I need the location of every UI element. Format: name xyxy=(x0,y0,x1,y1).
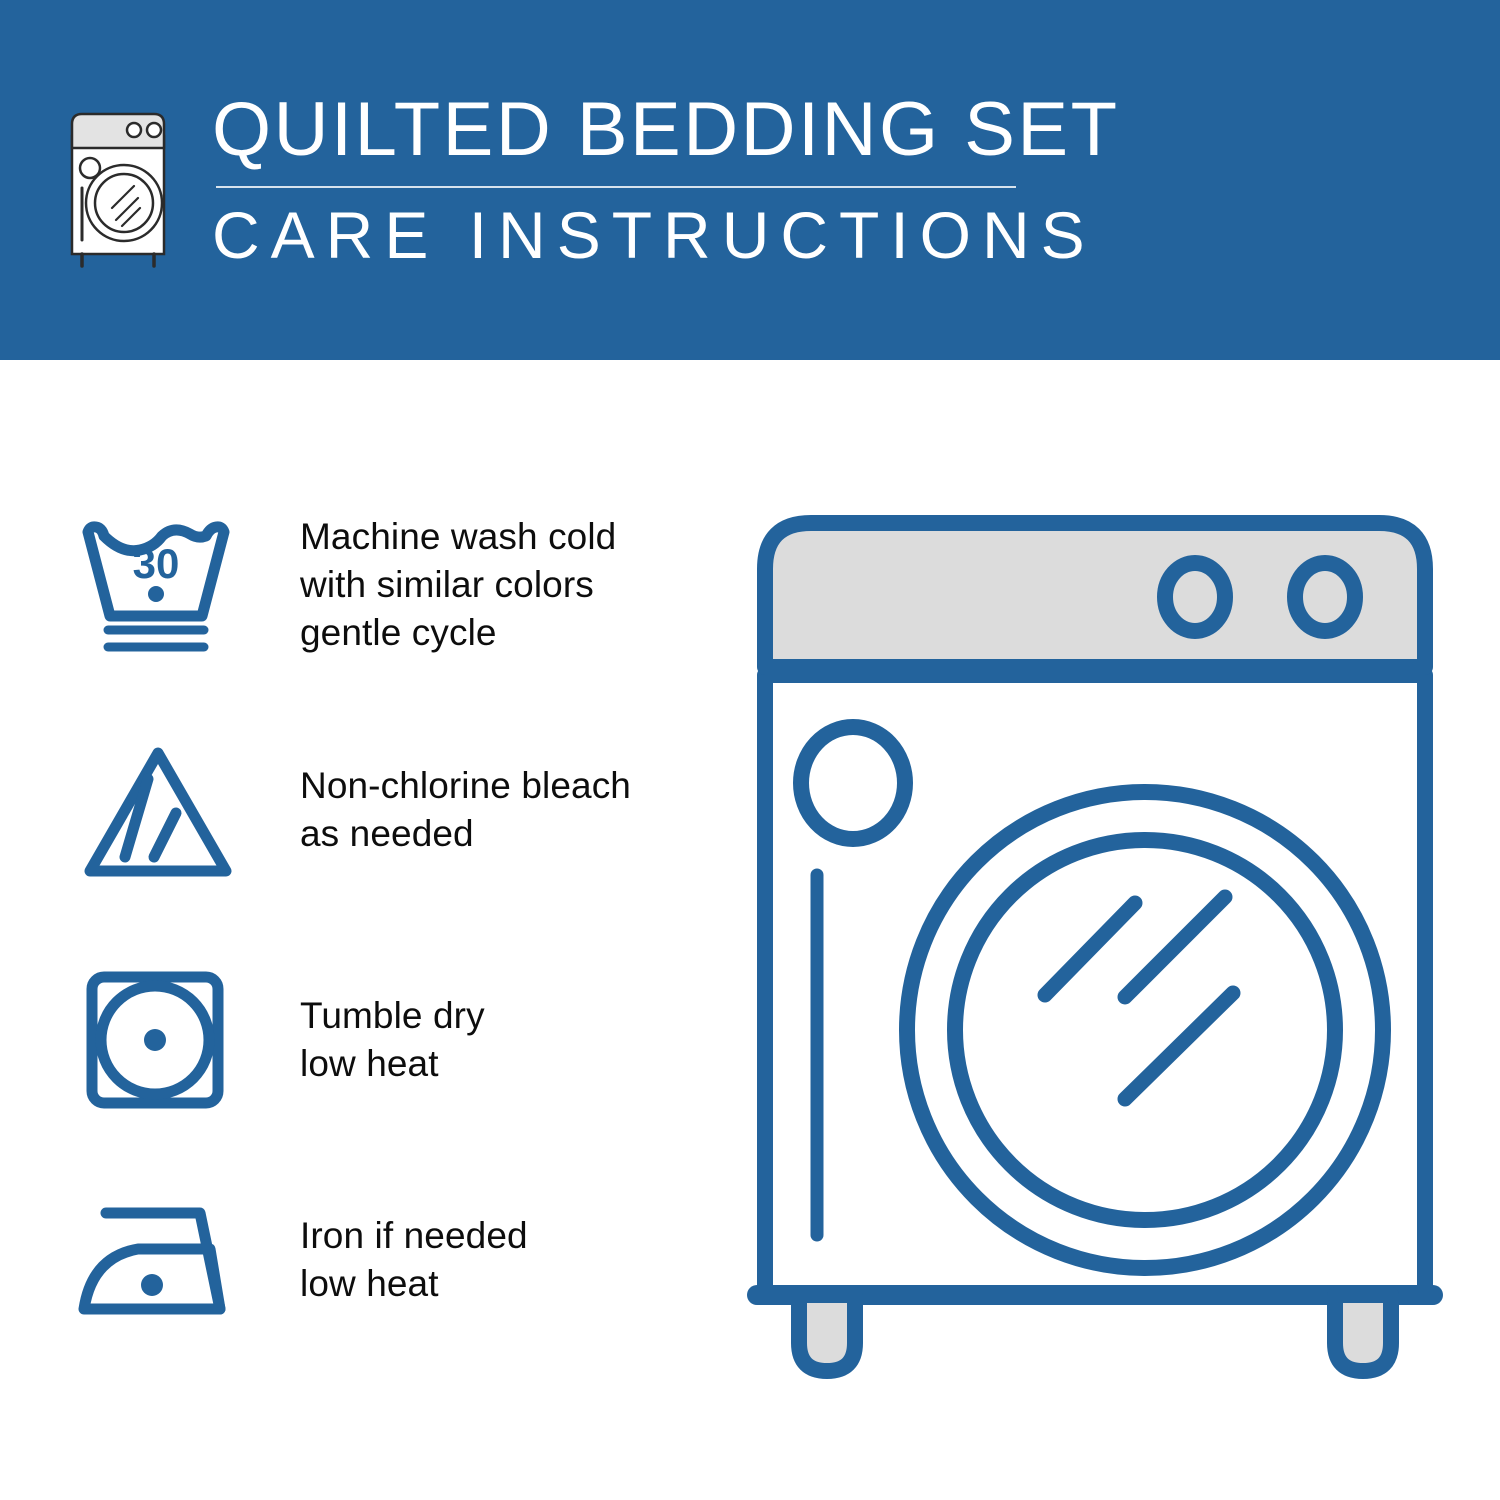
care-item-iron: Iron if needed low heat xyxy=(70,1185,730,1335)
iron-low-heat-icon xyxy=(70,1185,245,1335)
title-divider xyxy=(216,186,1016,188)
tumble-dry-low-icon xyxy=(70,965,245,1115)
care-text-line: low heat xyxy=(300,1040,485,1088)
care-item-text: Iron if needed low heat xyxy=(300,1212,528,1308)
care-item-bleach: Non-chlorine bleach as needed xyxy=(70,735,730,885)
care-text-line: with similar colors xyxy=(300,561,616,609)
care-text-line: low heat xyxy=(300,1260,528,1308)
page-subtitle: CARE INSTRUCTIONS xyxy=(212,202,1312,268)
page-title: QUILTED BEDDING SET xyxy=(212,92,1312,168)
care-text-line: Non-chlorine bleach xyxy=(300,762,631,810)
care-item-tumble-dry: Tumble dry low heat xyxy=(70,965,730,1115)
care-text-line: Machine wash cold xyxy=(300,513,616,561)
care-text-line: Iron if needed xyxy=(300,1212,528,1260)
washing-machine-icon xyxy=(60,98,190,268)
care-item-text: Non-chlorine bleach as needed xyxy=(300,762,631,858)
care-item-machine-wash: 30 Machine wash cold with similar colors… xyxy=(70,510,730,660)
care-text-line: gentle cycle xyxy=(300,609,616,657)
non-chlorine-bleach-triangle-icon xyxy=(70,735,245,885)
care-item-text: Machine wash cold with similar colors ge… xyxy=(300,513,616,657)
washing-machine-illustration xyxy=(735,495,1455,1405)
care-item-text: Tumble dry low heat xyxy=(300,992,485,1088)
header-banner: QUILTED BEDDING SET CARE INSTRUCTIONS xyxy=(0,0,1500,360)
care-text-line: as needed xyxy=(300,810,631,858)
care-text-line: Tumble dry xyxy=(300,992,485,1040)
header-text-block: QUILTED BEDDING SET CARE INSTRUCTIONS xyxy=(212,92,1312,268)
wash-tub-30-icon: 30 xyxy=(70,510,245,660)
svg-text:30: 30 xyxy=(133,540,180,587)
